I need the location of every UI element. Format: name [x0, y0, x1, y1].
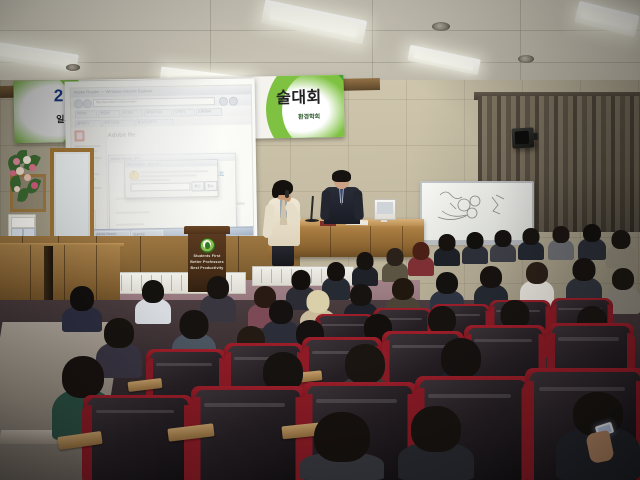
person-head — [480, 266, 502, 288]
person-head — [495, 230, 512, 247]
seat-highlight — [204, 403, 285, 407]
person-head — [345, 344, 385, 384]
seat-highlight — [316, 399, 397, 403]
presenter-standing — [322, 172, 362, 224]
person-head — [307, 290, 330, 313]
presenter-hair-side — [272, 186, 279, 198]
person-head — [207, 276, 229, 299]
person-head — [612, 230, 631, 249]
person-head — [327, 262, 345, 281]
person-head — [413, 242, 430, 260]
audience-member — [408, 242, 434, 276]
audience-member — [398, 406, 474, 480]
desk-monitor — [374, 199, 396, 220]
ceiling-speaker-icon — [66, 64, 80, 71]
audience-member — [548, 226, 574, 260]
person-head — [292, 270, 311, 290]
ceiling-light — [261, 0, 368, 45]
podium-top — [184, 226, 230, 234]
moderator-hair — [332, 170, 351, 182]
audience-member — [462, 232, 488, 264]
seat-highlight — [428, 394, 511, 398]
person-head — [62, 356, 104, 398]
flower-icon — [29, 164, 36, 171]
handheld-microphone-icon — [285, 190, 289, 198]
person-head — [180, 310, 209, 339]
person-head — [392, 278, 414, 300]
person-head — [583, 224, 601, 242]
audience-member — [578, 224, 606, 260]
audience-member — [434, 234, 460, 266]
audience-member — [490, 230, 516, 262]
audience-member — [606, 230, 636, 268]
ceiling-speaker-icon — [432, 22, 450, 31]
person-head — [142, 280, 164, 303]
person-head — [523, 228, 540, 245]
person-head — [314, 412, 370, 462]
seat-highlight — [156, 363, 212, 366]
podium-line-2: Better Professors — [190, 260, 224, 264]
flower-icon — [13, 158, 20, 165]
audience-member — [352, 252, 378, 286]
auditorium-photo: 2 술대회 일시 환경학회 Adobe Reader — Windows Int… — [0, 0, 640, 480]
presenter-legs — [272, 244, 294, 266]
flower-icon — [23, 156, 31, 164]
flower-icon — [24, 174, 31, 181]
microphone-stand-base — [305, 219, 319, 222]
person-head — [357, 252, 374, 270]
flower-icon — [10, 170, 16, 176]
person-head — [467, 232, 484, 249]
person-head — [553, 226, 570, 243]
audience-member — [300, 412, 384, 480]
ceiling-light — [574, 1, 639, 37]
ceiling-speaker-icon — [518, 55, 534, 63]
flower-icon — [14, 186, 20, 192]
floral-arrangement — [4, 148, 44, 210]
seat-highlight — [539, 387, 625, 391]
ceiling-light — [407, 45, 481, 76]
university-crest-icon — [200, 238, 215, 253]
person-head — [436, 272, 458, 294]
seat-highlight — [558, 337, 619, 340]
person-head — [428, 306, 456, 334]
person-head — [573, 258, 596, 281]
person-head — [70, 286, 94, 311]
person-head — [387, 248, 404, 266]
audience-member — [518, 228, 544, 260]
podium-line-1: Students First — [190, 254, 224, 258]
person-head — [612, 268, 634, 290]
presenter-speaking — [264, 182, 304, 266]
person-head — [104, 318, 134, 348]
panel-display — [11, 217, 35, 228]
person-head — [441, 338, 481, 378]
person-head — [439, 234, 456, 251]
podium-line-3: Best Productivity — [190, 266, 224, 270]
person-head — [526, 262, 548, 284]
seat-highlight — [96, 410, 174, 413]
audience-member — [382, 248, 408, 282]
flower-icon — [16, 167, 24, 175]
person-head — [350, 284, 372, 306]
person-head — [411, 406, 461, 452]
flower-icon — [31, 182, 38, 189]
wainscot-paneling — [0, 245, 120, 307]
